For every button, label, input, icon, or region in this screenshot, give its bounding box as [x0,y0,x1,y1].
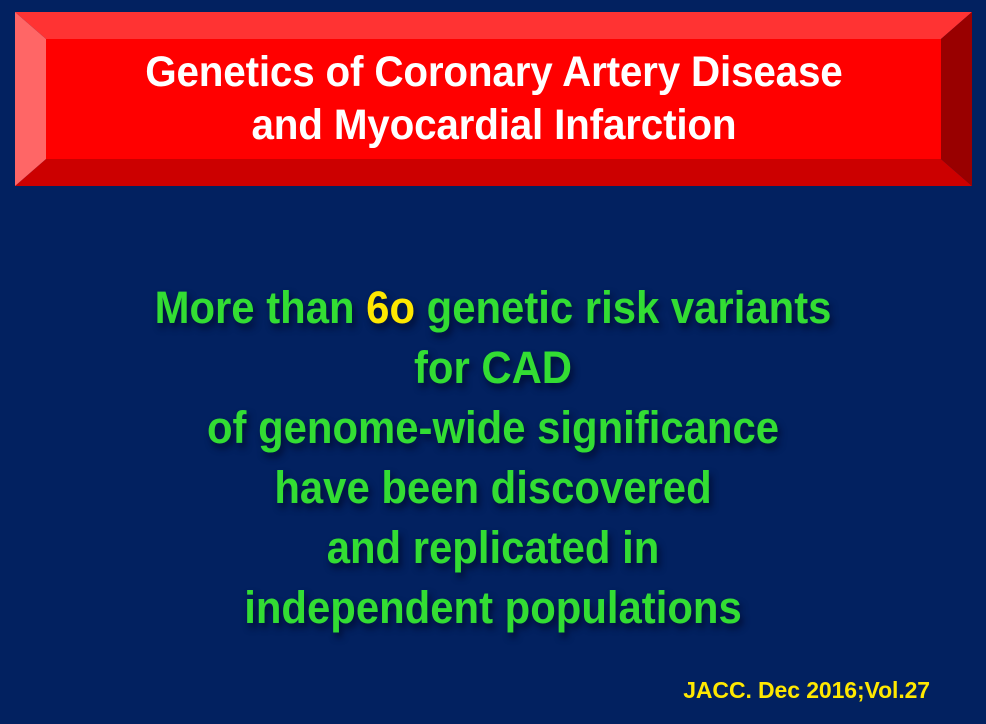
body-line-6: independent populations [35,578,952,638]
slide-title-line-2: and Myocardial Infarction [251,99,736,152]
body-line-1-after: genetic risk variants [415,282,831,333]
banner-bevel-top [15,12,972,39]
title-banner: Genetics of Coronary Artery Disease and … [15,12,972,186]
body-line-5: and replicated in [35,518,952,578]
body-line-1: More than 6o genetic risk variants [35,278,952,338]
banner-face: Genetics of Coronary Artery Disease and … [46,39,941,159]
banner-bevel-right [941,12,972,186]
source-citation: JACC. Dec 2016;Vol.27 [683,679,930,702]
variant-count-highlight: 6o [366,282,415,333]
slide-title-line-1: Genetics of Coronary Artery Disease [145,46,842,99]
banner-bevel-bottom [15,159,972,186]
slide-canvas: Genetics of Coronary Artery Disease and … [0,0,986,724]
body-line-4: have been discovered [35,458,952,518]
body-text-block: More than 6o genetic risk variants for C… [0,278,986,638]
body-line-3: of genome-wide significance [35,398,952,458]
body-line-2: for CAD [35,338,952,398]
banner-bevel-left [15,12,46,186]
body-line-1-before: More than [155,282,367,333]
